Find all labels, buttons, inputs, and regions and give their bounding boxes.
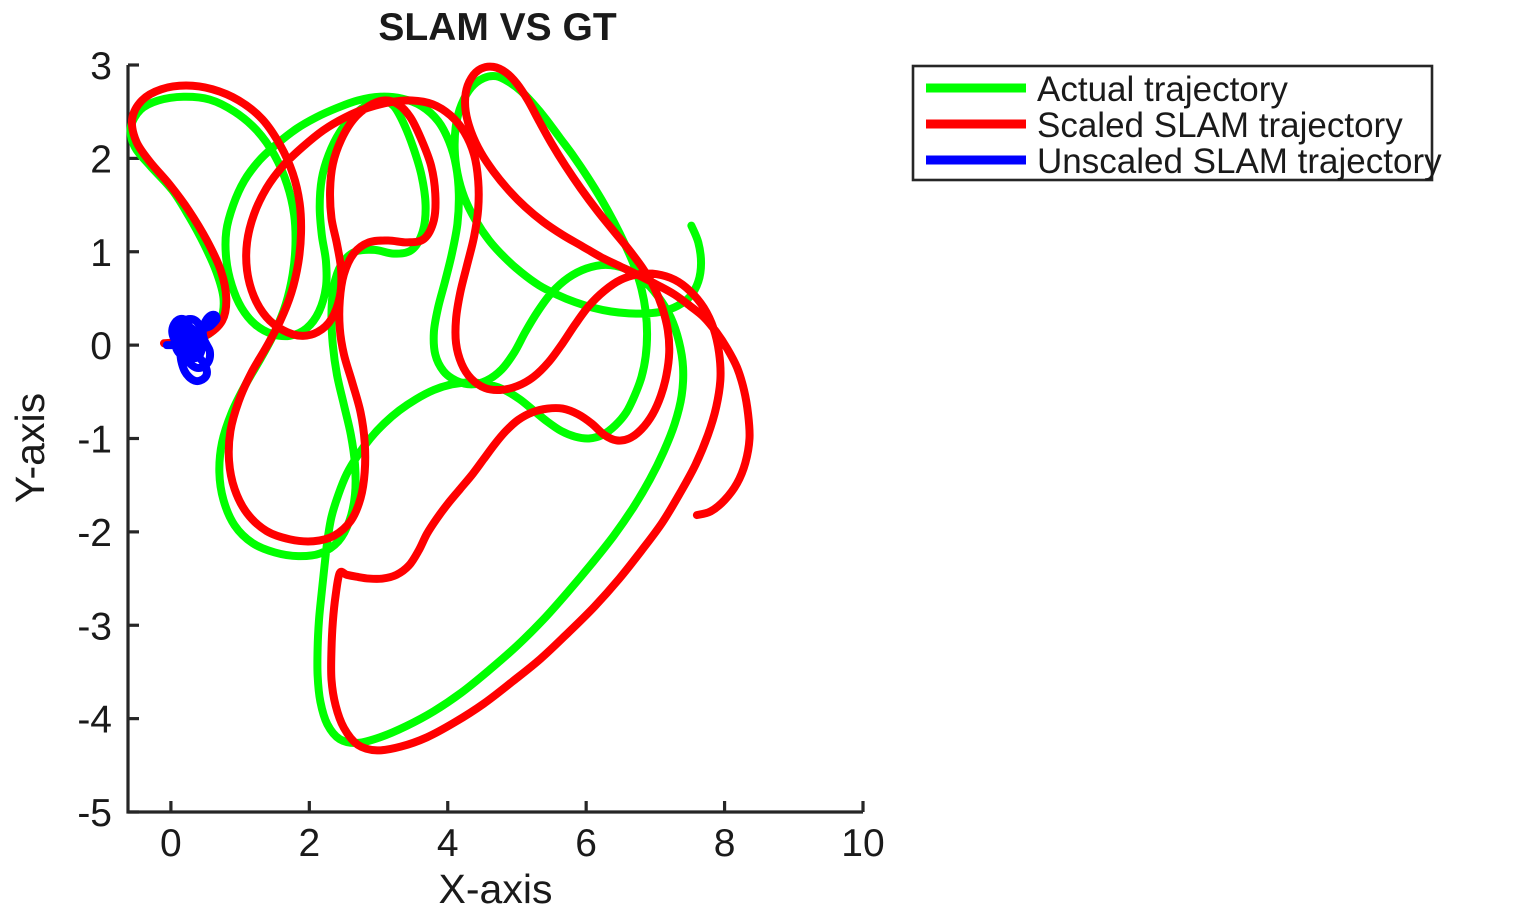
y-tick-label: -4	[77, 699, 112, 742]
y-tick-label: -1	[77, 419, 112, 462]
x-tick-label: 6	[575, 822, 597, 865]
y-tick-label: 0	[90, 325, 112, 368]
legend-label-1: Actual trajectory	[1037, 70, 1288, 109]
y-tick-label: -2	[77, 512, 112, 555]
legend-label-2: Scaled SLAM trajectory	[1037, 106, 1403, 145]
x-tick-label: 8	[714, 822, 736, 865]
x-tick-label: 2	[298, 822, 320, 865]
x-tick-label: 4	[437, 822, 459, 865]
legend-label-3: Unscaled SLAM trajectory	[1037, 142, 1442, 181]
y-tick-label: 1	[90, 232, 112, 275]
chart-title: SLAM VS GT	[378, 6, 617, 49]
y-tick-label: -3	[77, 605, 112, 648]
series-line-unscaled-slam-trajectory	[167, 315, 217, 381]
y-axis-title: Y-axis	[7, 393, 53, 503]
series-line-scaled-slam-trajectory	[132, 67, 750, 751]
y-tick-label: -5	[77, 792, 112, 835]
chart-plot[interactable]: 0246810-5-4-3-2-10123SLAM VS GTX-axisY-a…	[0, 0, 1520, 915]
x-axis-title: X-axis	[439, 866, 553, 912]
series-group	[131, 67, 750, 751]
figure-canvas: 0246810-5-4-3-2-10123SLAM VS GTX-axisY-a…	[0, 0, 1520, 915]
legend[interactable]: Actual trajectoryScaled SLAM trajectoryU…	[913, 66, 1442, 181]
y-tick-label: 3	[90, 45, 112, 88]
x-tick-label: 10	[841, 822, 884, 865]
x-tick-label: 0	[160, 822, 182, 865]
series-line-actual-trajectory	[131, 76, 702, 743]
y-tick-label: 2	[90, 138, 112, 181]
